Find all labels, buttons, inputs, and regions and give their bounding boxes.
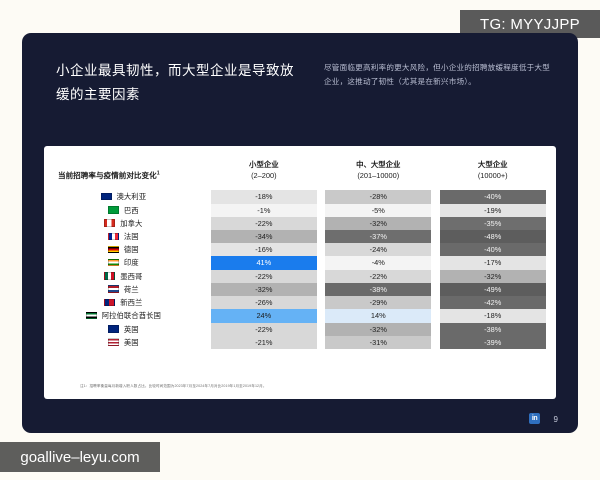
cell-spacer [203,283,211,296]
cell-spacer [203,309,211,322]
value-cell-mid: -28% [325,190,431,203]
slide-headline: 小企业最具韧性，而大型企业是导致放缓的主要因素 [56,59,306,106]
column-header-small: 小型企业 (2–200) [211,160,317,190]
cell-spacer [546,256,556,269]
value-cell-small: -18% [211,190,317,203]
value-cell-small: -16% [211,243,317,256]
country-cell: 印度 [44,256,203,269]
cell-spacer [431,296,439,309]
value-cell-mid: -38% [325,283,431,296]
cell-spacer [431,217,439,230]
cell-spacer [431,230,439,243]
cell-spacer [431,190,439,203]
cell-spacer [317,230,325,243]
value-cell-small: -22% [211,323,317,336]
country-cell: 加拿大 [44,217,203,230]
cell-spacer [431,309,439,322]
table-body: 澳大利亚-18%-28%-40%巴西-1%-5%-19%加拿大-22%-32%-… [44,190,556,348]
header-spacer [431,160,439,190]
column-header-large: 大型企业 (10000+) [440,160,546,190]
cell-spacer [546,217,556,230]
value-cell-large: -40% [440,190,546,203]
cell-spacer [317,256,325,269]
column-header-large-range: (10000+) [440,171,546,182]
value-cell-small: -1% [211,204,317,217]
flag-ca-icon [104,219,115,227]
country-label: 巴西 [124,206,139,215]
value-cell-mid: -29% [325,296,431,309]
cell-spacer [431,336,439,349]
country-cell: 德国 [44,243,203,256]
value-cell-large: -38% [440,323,546,336]
value-cell-mid: -24% [325,243,431,256]
cell-spacer [203,217,211,230]
site-watermark-badge: goallive–leyu.com [0,442,160,472]
table-row: 澳大利亚-18%-28%-40% [44,190,556,203]
cell-spacer [546,323,556,336]
value-cell-mid: 14% [325,309,431,322]
value-cell-small: -22% [211,217,317,230]
country-label: 加拿大 [120,219,142,228]
value-cell-large: -39% [440,336,546,349]
cell-spacer [317,217,325,230]
value-cell-mid: -5% [325,204,431,217]
flag-au-icon [101,193,112,201]
value-cell-large: -32% [440,270,546,283]
flag-br-icon [108,206,119,214]
value-cell-mid: -22% [325,270,431,283]
cell-spacer [317,323,325,336]
country-cell: 墨西哥 [44,270,203,283]
cell-spacer [203,204,211,217]
country-label: 墨西哥 [120,272,142,281]
cell-spacer [546,336,556,349]
table-header-row: 当前招聘率与疫情前对比变化1 小型企业 (2–200) 中、大型企业 (201–… [44,160,556,190]
country-cell: 巴西 [44,204,203,217]
table-row: 新西兰-26%-29%-42% [44,296,556,309]
cell-spacer [203,323,211,336]
table-footnote: 注1：招聘率衡量每月新增入职人数占比。比较时间范围为2023年7月至2024年7… [80,384,520,389]
table-row: 美国-21%-31%-39% [44,336,556,349]
country-cell: 法国 [44,230,203,243]
column-header-small-range: (2–200) [211,171,317,182]
cell-spacer [546,230,556,243]
value-cell-mid: -32% [325,323,431,336]
cell-spacer [431,243,439,256]
slide-header: 小企业最具韧性，而大型企业是导致放缓的主要因素 尽管面临更高利率的更大风险，但小… [22,33,578,133]
country-label: 法国 [124,232,139,241]
value-cell-large: -42% [440,296,546,309]
flag-nl-icon [108,285,119,293]
footnote-marker: 1 [157,171,160,177]
slide-page-number: 9 [554,415,558,424]
flag-fr-icon [108,233,119,241]
cell-spacer [546,283,556,296]
table-row: 法国-34%-37%-48% [44,230,556,243]
flag-de-icon [108,246,119,254]
country-label: 荷兰 [124,285,139,294]
table-row: 荷兰-32%-38%-49% [44,283,556,296]
cell-spacer [203,230,211,243]
value-cell-small: 24% [211,309,317,322]
cell-spacer [203,336,211,349]
column-header-mid-label: 中、大型企业 [356,160,400,169]
cell-spacer [203,256,211,269]
cell-spacer [317,190,325,203]
cell-spacer [317,309,325,322]
flag-us-icon [108,338,119,346]
cell-spacer [317,296,325,309]
country-cell: 新西兰 [44,296,203,309]
value-cell-small: -22% [211,270,317,283]
value-cell-small: -32% [211,283,317,296]
value-cell-mid: -4% [325,256,431,269]
cell-spacer [317,270,325,283]
country-cell: 澳大利亚 [44,190,203,203]
cell-spacer [546,243,556,256]
hiring-rate-heatmap-table: 当前招聘率与疫情前对比变化1 小型企业 (2–200) 中、大型企业 (201–… [44,160,556,349]
country-label: 德国 [124,245,139,254]
header-spacer [317,160,325,190]
cell-spacer [203,190,211,203]
country-label: 美国 [124,338,139,347]
country-label: 印度 [124,258,139,267]
cell-spacer [203,243,211,256]
value-cell-large: -17% [440,256,546,269]
flag-in-icon [108,259,119,267]
flag-gb-icon [108,325,119,333]
cell-spacer [546,296,556,309]
cell-spacer [546,309,556,322]
cell-spacer [546,270,556,283]
cell-spacer [431,270,439,283]
column-header-metric: 当前招聘率与疫情前对比变化1 [44,160,203,190]
metric-header-label: 当前招聘率与疫情前对比变化 [58,171,157,180]
column-header-large-label: 大型企业 [478,160,508,169]
country-label: 阿拉伯联合酋长国 [102,311,161,320]
value-cell-mid: -32% [325,217,431,230]
data-table-panel: 当前招聘率与疫情前对比变化1 小型企业 (2–200) 中、大型企业 (201–… [44,146,556,399]
column-header-mid-range: (201–10000) [325,171,431,182]
cell-spacer [431,323,439,336]
value-cell-large: -49% [440,283,546,296]
value-cell-small: -21% [211,336,317,349]
presentation-slide: 小企业最具韧性，而大型企业是导致放缓的主要因素 尽管面临更高利率的更大风险，但小… [22,33,578,433]
slide-subcopy: 尽管面临更高利率的更大风险，但小企业的招聘放缓程度低于大型企业，这推动了韧性（尤… [324,61,550,89]
table-row: 德国-16%-24%-40% [44,243,556,256]
screenshot-root: TG: MYYJJPP 小企业最具韧性，而大型企业是导致放缓的主要因素 尽管面临… [0,0,600,480]
flag-nz-icon [104,299,115,307]
value-cell-large: -35% [440,217,546,230]
country-cell: 美国 [44,336,203,349]
header-spacer [546,160,556,190]
value-cell-mid: -37% [325,230,431,243]
value-cell-large: -48% [440,230,546,243]
cell-spacer [431,256,439,269]
country-cell: 荷兰 [44,283,203,296]
flag-mx-icon [104,272,115,280]
table-row: 阿拉伯联合酋长国24%14%-18% [44,309,556,322]
country-cell: 英国 [44,323,203,336]
table-row: 印度41%-4%-17% [44,256,556,269]
cell-spacer [317,336,325,349]
cell-spacer [203,270,211,283]
cell-spacer [317,283,325,296]
cell-spacer [431,283,439,296]
value-cell-large: -40% [440,243,546,256]
value-cell-large: -19% [440,204,546,217]
linkedin-icon: in [529,413,540,424]
table-row: 英国-22%-32%-38% [44,323,556,336]
cell-spacer [203,296,211,309]
country-cell: 阿拉伯联合酋长国 [44,309,203,322]
value-cell-small: -26% [211,296,317,309]
column-header-mid: 中、大型企业 (201–10000) [325,160,431,190]
table-row: 墨西哥-22%-22%-32% [44,270,556,283]
value-cell-small: -34% [211,230,317,243]
value-cell-large: -18% [440,309,546,322]
table-row: 加拿大-22%-32%-35% [44,217,556,230]
cell-spacer [317,243,325,256]
cell-spacer [317,204,325,217]
country-label: 英国 [124,325,139,334]
cell-spacer [431,204,439,217]
header-spacer [203,160,211,190]
table-row: 巴西-1%-5%-19% [44,204,556,217]
country-label: 新西兰 [120,298,142,307]
cell-spacer [546,190,556,203]
column-header-small-label: 小型企业 [249,160,279,169]
value-cell-small: 41% [211,256,317,269]
flag-ae-icon [86,312,97,320]
value-cell-mid: -31% [325,336,431,349]
country-label: 澳大利亚 [117,192,147,201]
cell-spacer [546,204,556,217]
